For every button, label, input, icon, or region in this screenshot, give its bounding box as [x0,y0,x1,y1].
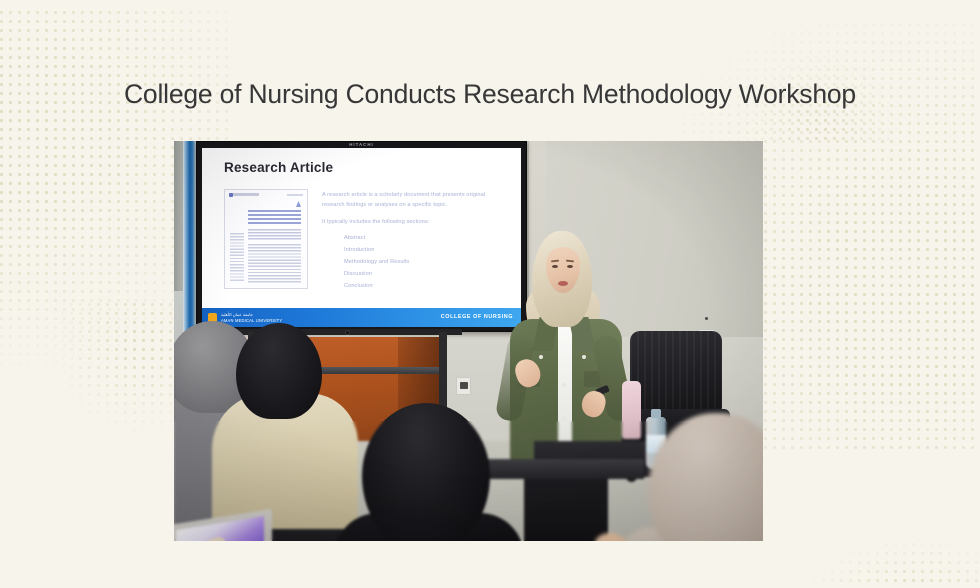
slide-section-list: Abstract Introduction Methodology and Re… [322,234,509,292]
display-camera-icon [345,330,350,335]
water-bottle-cap [651,409,661,418]
presentation-slide: Research Article A research article is a… [202,148,521,327]
slide-footer-bar: جامعة عمان الأهلية AMAN MEDICAL UNIVERSI… [202,308,521,327]
slide-title: Research Article [224,160,333,175]
front-desk-edge [474,459,644,479]
slide-section-item: Introduction [344,246,509,256]
wall-socket-lower [456,377,471,395]
page-title: College of Nursing Conducts Research Met… [120,78,860,110]
presenter-mouth [558,281,568,286]
slide-section-item: Discussion [344,270,509,280]
attendee-foreground-hijab [362,403,490,541]
slide-paragraph-1: A research article is a scholarly docume… [322,191,509,211]
pink-tumbler [622,381,641,439]
presenter-button [562,383,566,387]
page-root: College of Nursing Conducts Research Met… [0,0,980,588]
presenter-button [539,355,543,359]
office-chair-back [630,331,722,413]
slide-section-item: Methodology and Results [344,258,509,268]
presenter [496,231,628,541]
display-brand-label: HITACHI [349,142,373,147]
slide-section-item: Conclusion [344,282,509,292]
presenter-eye-left [552,265,558,268]
wall-screw-top [705,317,708,320]
slide-paragraph-2: It typically includes the following sect… [322,218,509,228]
slide-footer-org-line2: AMAN MEDICAL UNIVERSITY [221,318,282,323]
wall-display: HITACHI Research Article A research arti… [196,141,527,332]
attendee-center-hijab [236,323,322,419]
article-photo: HITACHI Research Article A research arti… [174,141,763,541]
dot-pattern-right-top [740,0,940,140]
slide-footer-org: جامعة عمان الأهلية AMAN MEDICAL UNIVERSI… [221,312,282,324]
slide-section-item: Abstract [344,234,509,244]
slide-document-thumbnail [224,189,308,289]
slide-body: A research article is a scholarly docume… [322,191,509,294]
presenter-button [582,355,586,359]
presenter-button [562,417,566,421]
presenter-eye-right [567,265,573,268]
slide-footer-org-line1: جامعة عمان الأهلية [221,312,253,317]
